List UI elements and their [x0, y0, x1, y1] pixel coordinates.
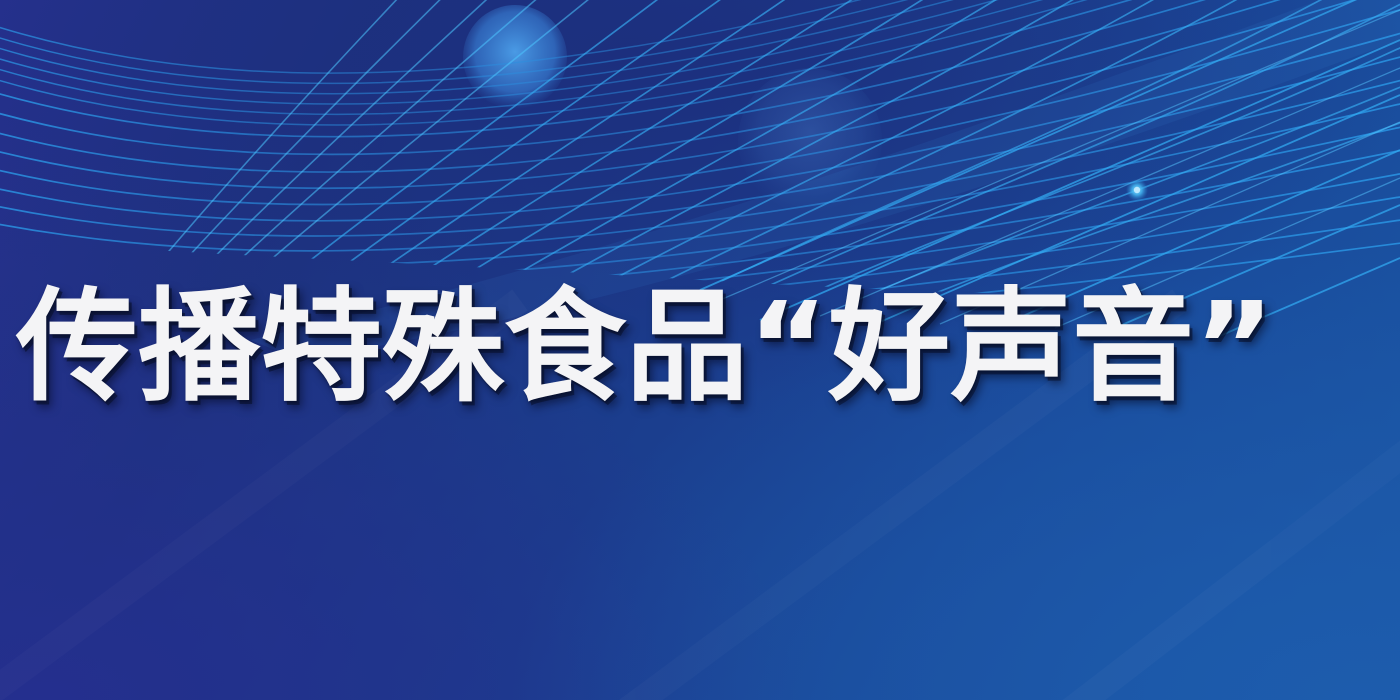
- page-title: 传播特殊食品“好声音”: [16, 286, 1274, 408]
- bright-glow-circle: [463, 5, 567, 109]
- soft-glow-circle: [738, 68, 882, 212]
- decorative-circles: [463, 5, 882, 212]
- banner-root: 传播特殊食品“好声音”: [0, 0, 1400, 700]
- small-glow-dot: [1126, 179, 1148, 201]
- banner-title-block: 传播特殊食品“好声音”: [16, 272, 1396, 422]
- small-glow-dot-core: [1134, 187, 1140, 193]
